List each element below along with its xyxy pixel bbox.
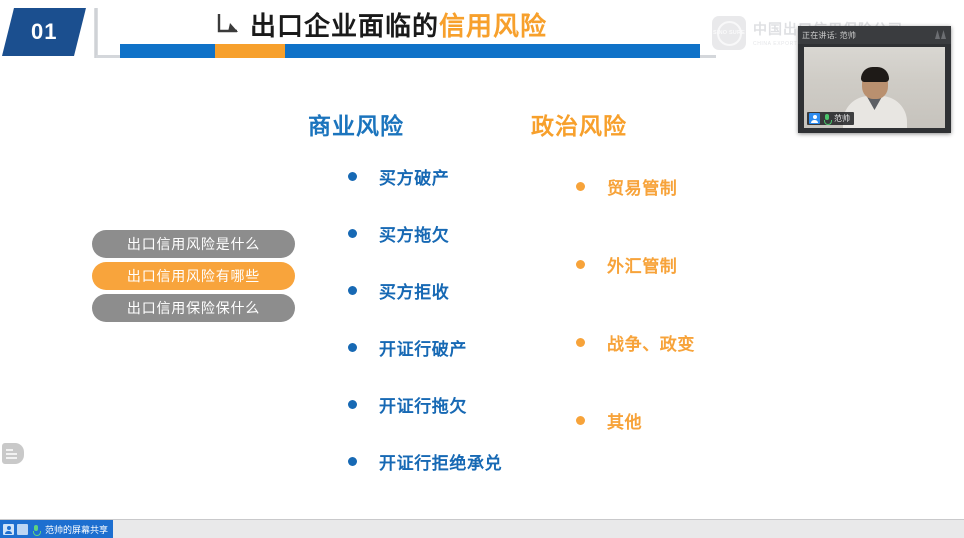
- arrow-down-right-icon: [213, 9, 243, 39]
- slide-number-badge: 01: [2, 8, 86, 56]
- bullet-dot-icon: [348, 343, 357, 352]
- taskbar-screenshare-item[interactable]: 范帅的屏幕共享: [0, 520, 113, 538]
- microphone-icon[interactable]: [31, 524, 42, 535]
- menu-line: [6, 449, 13, 451]
- list-item: 战争、政变: [576, 303, 695, 381]
- list-item: 开证行拒绝承兑: [348, 433, 502, 490]
- list-item: 买方破产: [348, 148, 502, 205]
- menu-line: [6, 457, 17, 459]
- list-item: 开证行拖欠: [348, 376, 502, 433]
- bullet-dot-icon: [576, 338, 585, 347]
- list-menu-icon[interactable]: [2, 443, 24, 464]
- participant-name: 范帅: [834, 113, 850, 124]
- list-item: 买方拒收: [348, 262, 502, 319]
- screen-root: 01 出口企业面临的信用风险 SINO SURE 中国出口信用保险公司 CHIN…: [0, 0, 964, 538]
- nav-pill-which-risks[interactable]: 出口信用风险有哪些: [92, 262, 295, 290]
- video-thumbnail-panel[interactable]: 正在讲话: 范帅 范帅: [798, 26, 951, 133]
- bullet-dot-icon: [348, 172, 357, 181]
- logo-mark-text: SINO SURE: [712, 30, 746, 36]
- bullet-list-commercial: 买方破产 买方拖欠 买方拒收 开证行破产 开证行拖欠 开证行拒绝承兑: [348, 148, 502, 490]
- sinosure-logo-mark: SINO SURE: [712, 16, 746, 50]
- video-feed: 范帅: [804, 47, 945, 128]
- microphone-icon[interactable]: [823, 113, 831, 124]
- video-panel-header: 正在讲话: 范帅: [798, 26, 951, 44]
- chevron-shape: [935, 30, 940, 39]
- taskbar: 范帅的屏幕共享: [0, 519, 964, 538]
- list-item: 其他: [576, 381, 695, 459]
- title-bar-segment-accent: [215, 44, 285, 58]
- participant-hair: [861, 67, 889, 82]
- list-item: 外汇管制: [576, 225, 695, 303]
- badge-slash-decoration: [82, 8, 110, 58]
- slide-section-nav: 出口信用风险是什么 出口信用风险有哪些 出口信用保险保什么: [92, 230, 295, 326]
- list-item-label: 开证行破产: [379, 335, 467, 360]
- column-heading-political: 政治风险: [531, 107, 627, 141]
- user-icon: [3, 524, 14, 535]
- title-bar-segment-left: [120, 44, 215, 58]
- menu-line: [6, 453, 17, 455]
- list-item-label: 开证行拖欠: [379, 392, 467, 417]
- bullet-dot-icon: [348, 229, 357, 238]
- list-item: 买方拖欠: [348, 205, 502, 262]
- list-item-label: 其他: [607, 408, 642, 433]
- bullet-dot-icon: [348, 457, 357, 466]
- list-item-label: 战争、政变: [607, 330, 695, 355]
- bullet-dot-icon: [348, 286, 357, 295]
- speaking-status-label: 正在讲话: 范帅: [802, 30, 856, 41]
- nav-pill-what-is[interactable]: 出口信用风险是什么: [92, 230, 295, 258]
- list-item: 贸易管制: [576, 147, 695, 225]
- bullet-dot-icon: [348, 400, 357, 409]
- video-nametag: 范帅: [807, 112, 854, 125]
- page-title: 出口企业面临的信用风险: [250, 6, 547, 43]
- list-item-label: 买方拒收: [379, 278, 449, 303]
- panel-collapse-icon[interactable]: [935, 30, 946, 39]
- list-item-label: 贸易管制: [607, 174, 677, 199]
- list-item-label: 买方拖欠: [379, 221, 449, 246]
- bullet-dot-icon: [576, 416, 585, 425]
- list-item-label: 外汇管制: [607, 252, 677, 277]
- column-heading-commercial: 商业风险: [308, 107, 404, 141]
- list-item: 开证行破产: [348, 319, 502, 376]
- chevron-shape: [941, 30, 946, 39]
- bullet-list-political: 贸易管制 外汇管制 战争、政变 其他: [576, 147, 695, 459]
- list-item-label: 开证行拒绝承兑: [379, 449, 502, 474]
- bullet-dot-icon: [576, 182, 585, 191]
- screen-share-icon: [17, 524, 28, 535]
- bullet-dot-icon: [576, 260, 585, 269]
- page-title-highlight: 信用风险: [439, 11, 547, 41]
- taskbar-item-label: 范帅的屏幕共享: [45, 523, 108, 536]
- slide-number-text: 01: [31, 19, 57, 45]
- user-icon: [809, 113, 820, 124]
- title-bar-segment-right: [285, 44, 700, 58]
- page-title-main: 出口企业面临的: [250, 11, 439, 41]
- nav-pill-what-covered[interactable]: 出口信用保险保什么: [92, 294, 295, 322]
- list-item-label: 买方破产: [379, 164, 449, 189]
